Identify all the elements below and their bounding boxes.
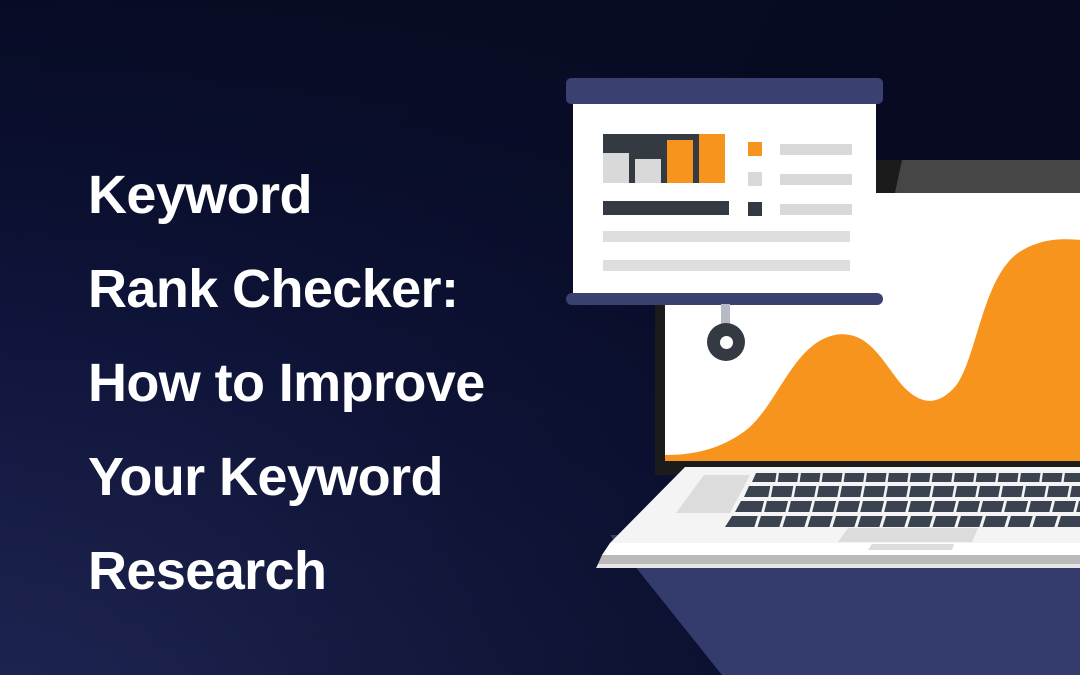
bar-2 xyxy=(635,159,661,183)
slide-text-line xyxy=(603,260,850,271)
laptop-trackpad xyxy=(838,528,978,542)
bar-1 xyxy=(603,153,629,183)
slide-content xyxy=(573,104,876,293)
slide-text-placeholders xyxy=(603,231,850,271)
legend-item xyxy=(748,202,852,216)
legend-label-placeholder xyxy=(780,204,852,215)
board-stand-knob xyxy=(707,323,745,361)
deck-front-shadow xyxy=(598,555,1080,564)
deck-front-bottom xyxy=(596,564,1080,568)
poster-canvas: Keyword Rank Checker: How to Improve You… xyxy=(0,0,1080,675)
laptop-keyboard-deck xyxy=(580,465,1080,570)
bar-3 xyxy=(667,140,693,183)
legend-label-placeholder xyxy=(780,144,852,155)
laptop-bezel-top-light xyxy=(895,160,1080,193)
legend-label-placeholder xyxy=(780,174,852,185)
slide-text-line xyxy=(603,231,850,242)
board-slide-sheet xyxy=(573,104,876,293)
legend-swatch-grey xyxy=(748,172,762,186)
deck-front-face xyxy=(602,543,1080,555)
page-title: Keyword Rank Checker: How to Improve You… xyxy=(88,148,608,618)
chart-legend xyxy=(748,142,852,216)
legend-item xyxy=(748,172,852,186)
laptop-trackpad-notch xyxy=(868,544,954,550)
legend-swatch-charcoal xyxy=(748,202,762,216)
bar-4 xyxy=(699,134,725,183)
slide-title-placeholder xyxy=(603,201,729,215)
bar-chart xyxy=(603,134,725,183)
laptop-base xyxy=(580,465,1080,570)
board-top-bar xyxy=(566,78,883,104)
presentation-board xyxy=(566,78,886,326)
legend-swatch-orange xyxy=(748,142,762,156)
legend-item xyxy=(748,142,852,156)
